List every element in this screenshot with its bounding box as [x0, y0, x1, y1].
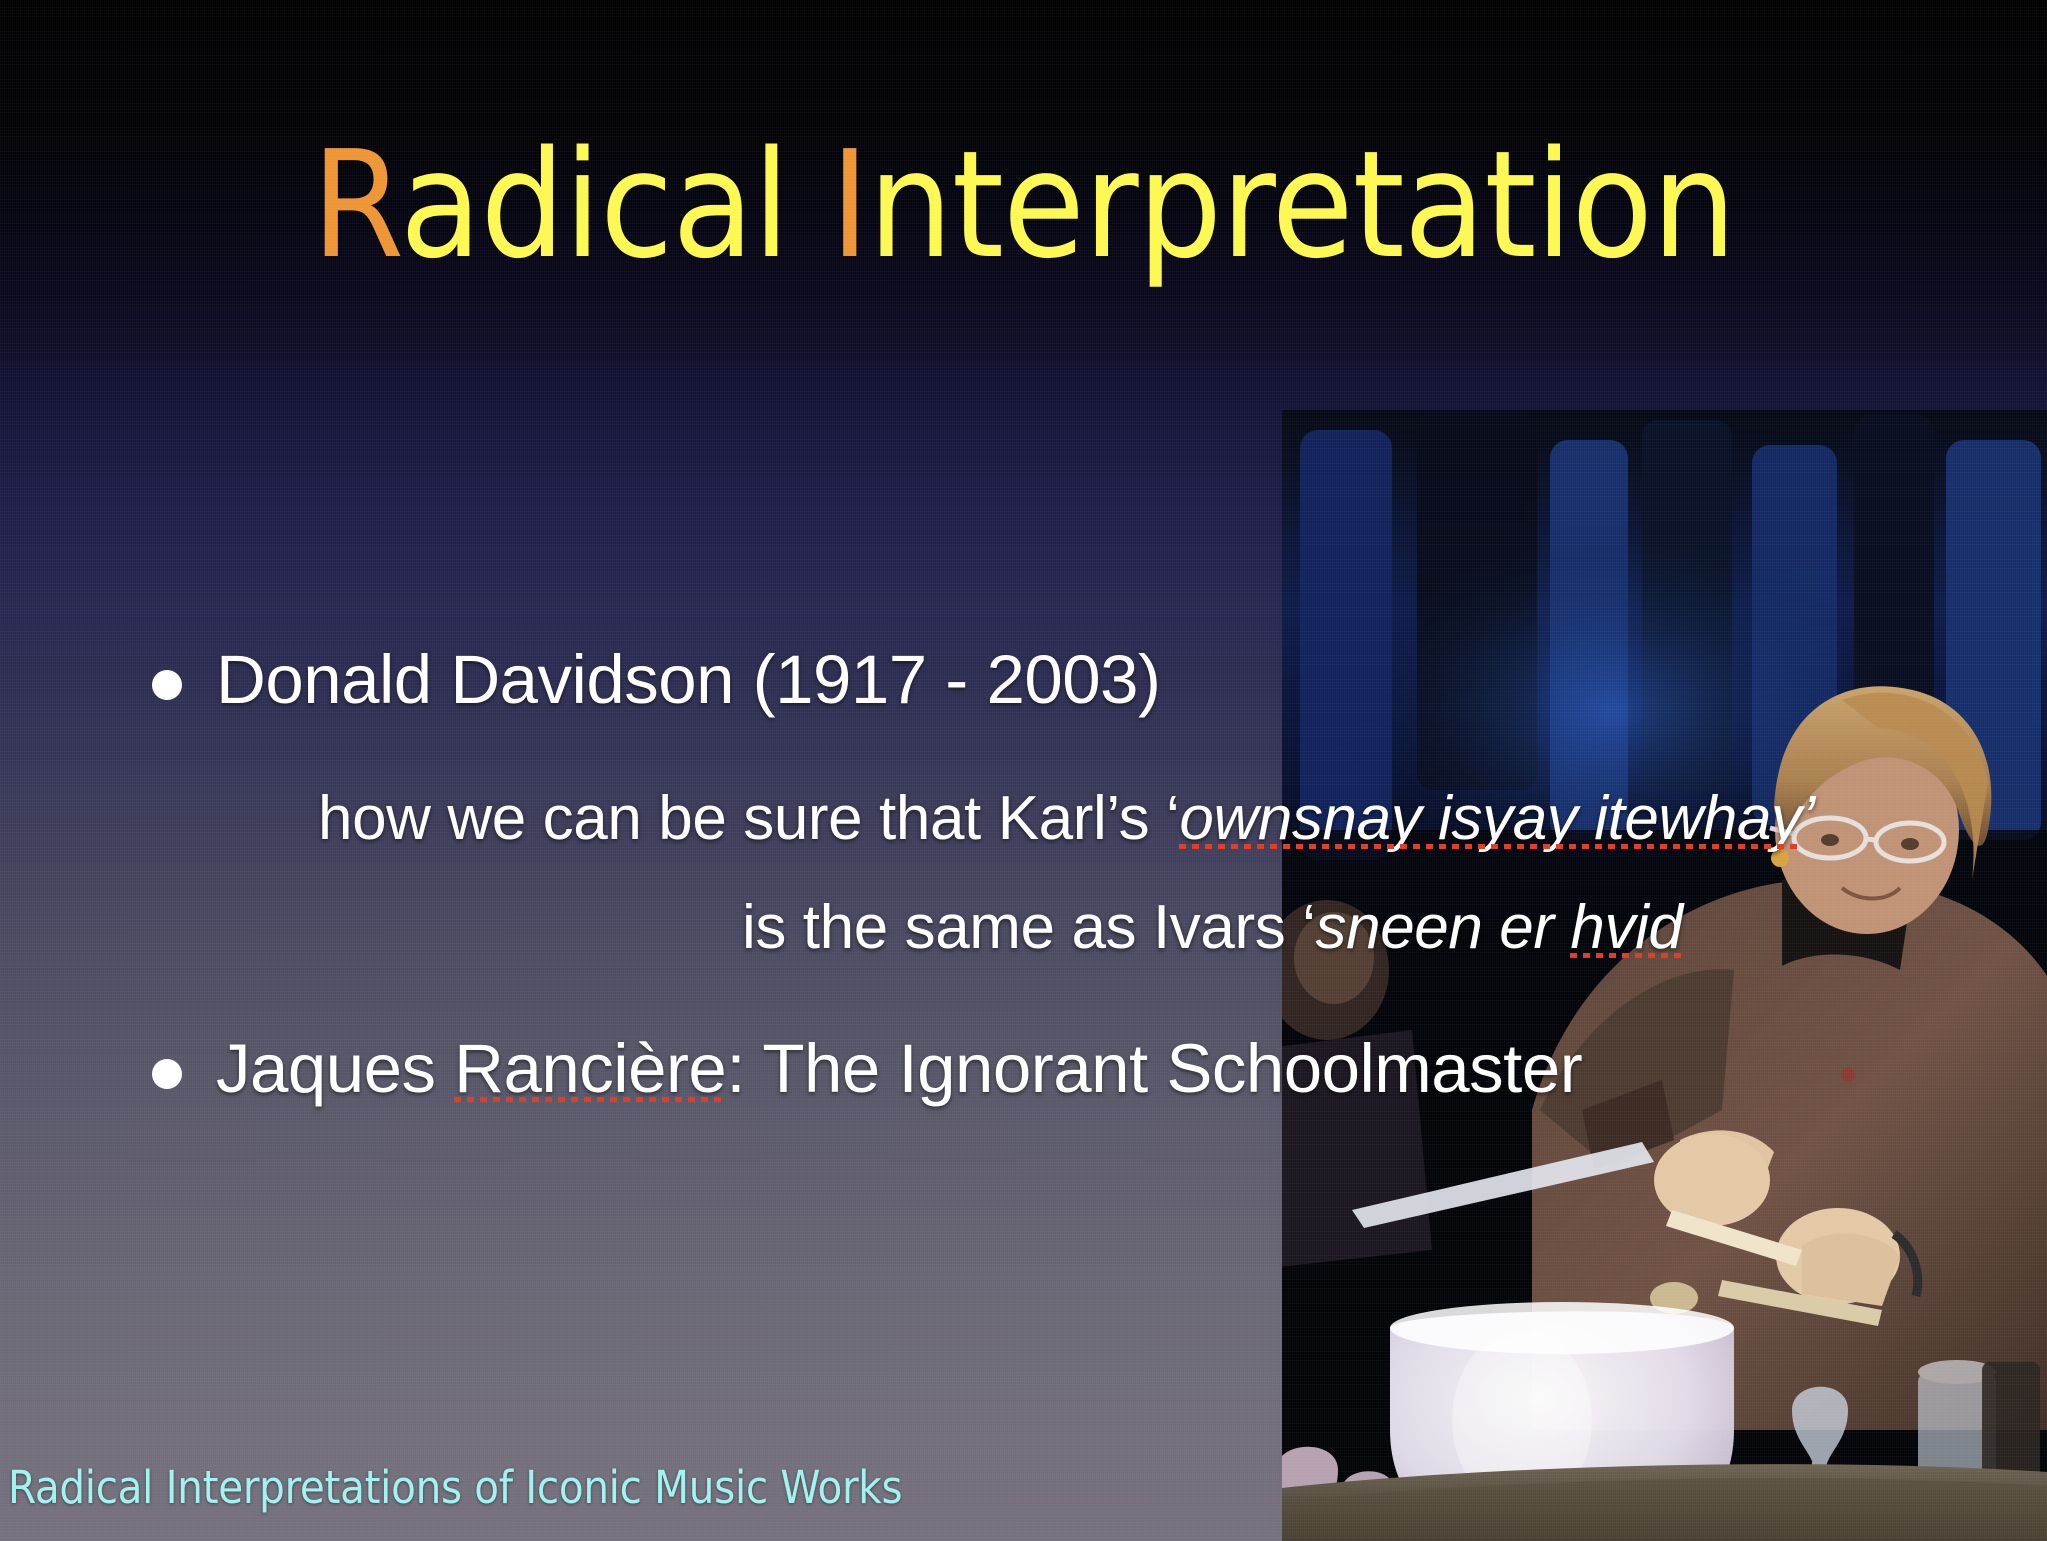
- bullet-2-after: : The Ignorant Schoolmaster: [726, 1030, 1582, 1107]
- bullet-dot-icon: [152, 670, 182, 700]
- list-item: Donald Davidson (1917 - 2003): [152, 643, 1160, 718]
- sub-line-2-misspelled: hvid: [1570, 895, 1682, 962]
- sub-line-1: how we can be sure that Karl’s ‘ownsnay …: [318, 786, 1815, 853]
- bullet-2-label: Jaques Rancière: The Ignorant Schoolmast…: [216, 1032, 1582, 1107]
- bullet-2-before: Jaques: [216, 1030, 454, 1107]
- sub-line-1-plain: how we can be sure that Karl’s ‘: [318, 784, 1179, 853]
- bullet-dot-icon: [152, 1059, 182, 1089]
- slide-footer: Radical Interpretations of Iconic Music …: [8, 1461, 902, 1514]
- sub-line-1-tail: ’: [1802, 784, 1815, 853]
- list-item: Jaques Rancière: The Ignorant Schoolmast…: [152, 1032, 1582, 1107]
- presentation-slide: Radical Interpretation: [0, 0, 2047, 1541]
- sub-line-2-italic: sneen er: [1316, 893, 1571, 962]
- sub-line-1-misspelled: ownsnay isyay itewhay: [1179, 786, 1801, 853]
- bullet-2-misspelled: Rancière: [454, 1032, 726, 1107]
- bullet-1-label: Donald Davidson (1917 - 2003): [216, 643, 1160, 718]
- sub-line-2-plain: is the same as Ivars ‘: [742, 893, 1316, 962]
- sub-line-2: is the same as Ivars ‘sneen er hvid: [742, 895, 1683, 962]
- slide-body: Donald Davidson (1917 - 2003) how we can…: [0, 0, 2047, 1541]
